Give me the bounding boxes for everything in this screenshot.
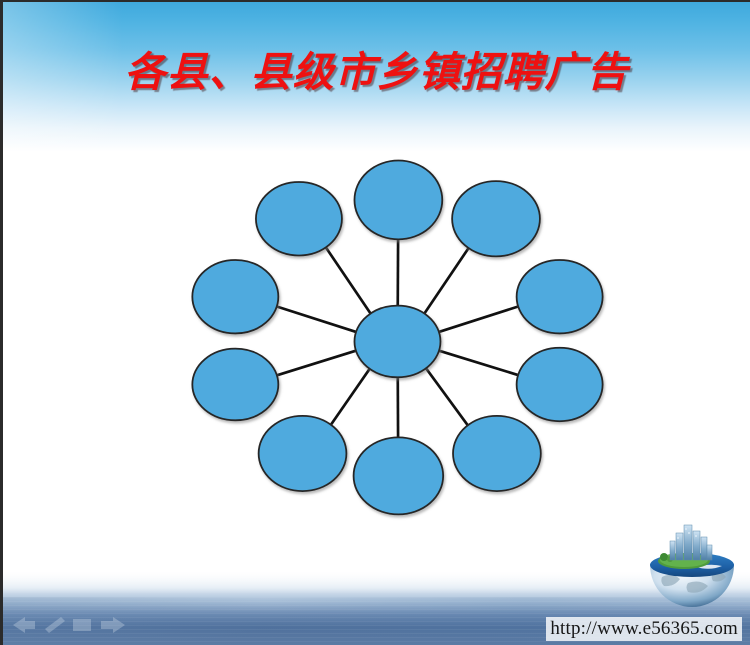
diagram-node-10[interactable] <box>452 181 540 256</box>
diagram-spoke-3 <box>277 306 356 331</box>
diagram-spoke-8 <box>439 351 518 375</box>
website-url-watermark: http://www.e56365.com <box>546 617 742 641</box>
diagram-spoke-2 <box>326 247 371 313</box>
diagram-node-1[interactable] <box>354 161 442 240</box>
diagram-nodes <box>192 161 602 515</box>
diagram-node-7[interactable] <box>453 416 541 491</box>
diagram-node-4[interactable] <box>192 349 278 421</box>
diagram-node-8-shape <box>517 348 603 421</box>
slide-canvas: 各县、县级市乡镇招聘广告 <box>0 0 750 645</box>
diagram-node-3[interactable] <box>192 260 278 333</box>
diagram-node-2-shape <box>256 182 342 255</box>
diagram-node-3-shape <box>192 260 278 333</box>
diagram-node-2[interactable] <box>256 182 342 255</box>
radial-diagram-svg <box>178 127 608 547</box>
diagram-spoke-5 <box>331 369 370 425</box>
globe-city-logo-icon <box>640 519 744 615</box>
ocean-horizon-haze <box>3 567 750 593</box>
diagram-node-5[interactable] <box>259 416 347 491</box>
diagram-node-10-shape <box>452 181 540 256</box>
diagram-node-6-shape <box>354 437 444 514</box>
diagram-spoke-10 <box>424 248 468 313</box>
diagram-spoke-9 <box>439 306 518 331</box>
diagram-node-6[interactable] <box>354 437 444 514</box>
water-watermark-icons <box>9 611 129 635</box>
diagram-spoke-7 <box>426 368 468 425</box>
radial-diagram <box>178 127 608 547</box>
diagram-spoke-4 <box>277 351 356 376</box>
diagram-center-node[interactable] <box>354 306 440 378</box>
diagram-center-node-shape <box>354 306 440 378</box>
diagram-node-4-shape <box>192 349 278 421</box>
diagram-node-1-shape <box>354 161 442 240</box>
diagram-node-5-shape <box>259 416 347 491</box>
diagram-node-7-shape <box>453 416 541 491</box>
diagram-node-9-shape <box>517 260 603 333</box>
diagram-node-9[interactable] <box>517 260 603 333</box>
page-title: 各县、县级市乡镇招聘广告 <box>3 38 750 98</box>
diagram-node-8[interactable] <box>517 348 603 421</box>
